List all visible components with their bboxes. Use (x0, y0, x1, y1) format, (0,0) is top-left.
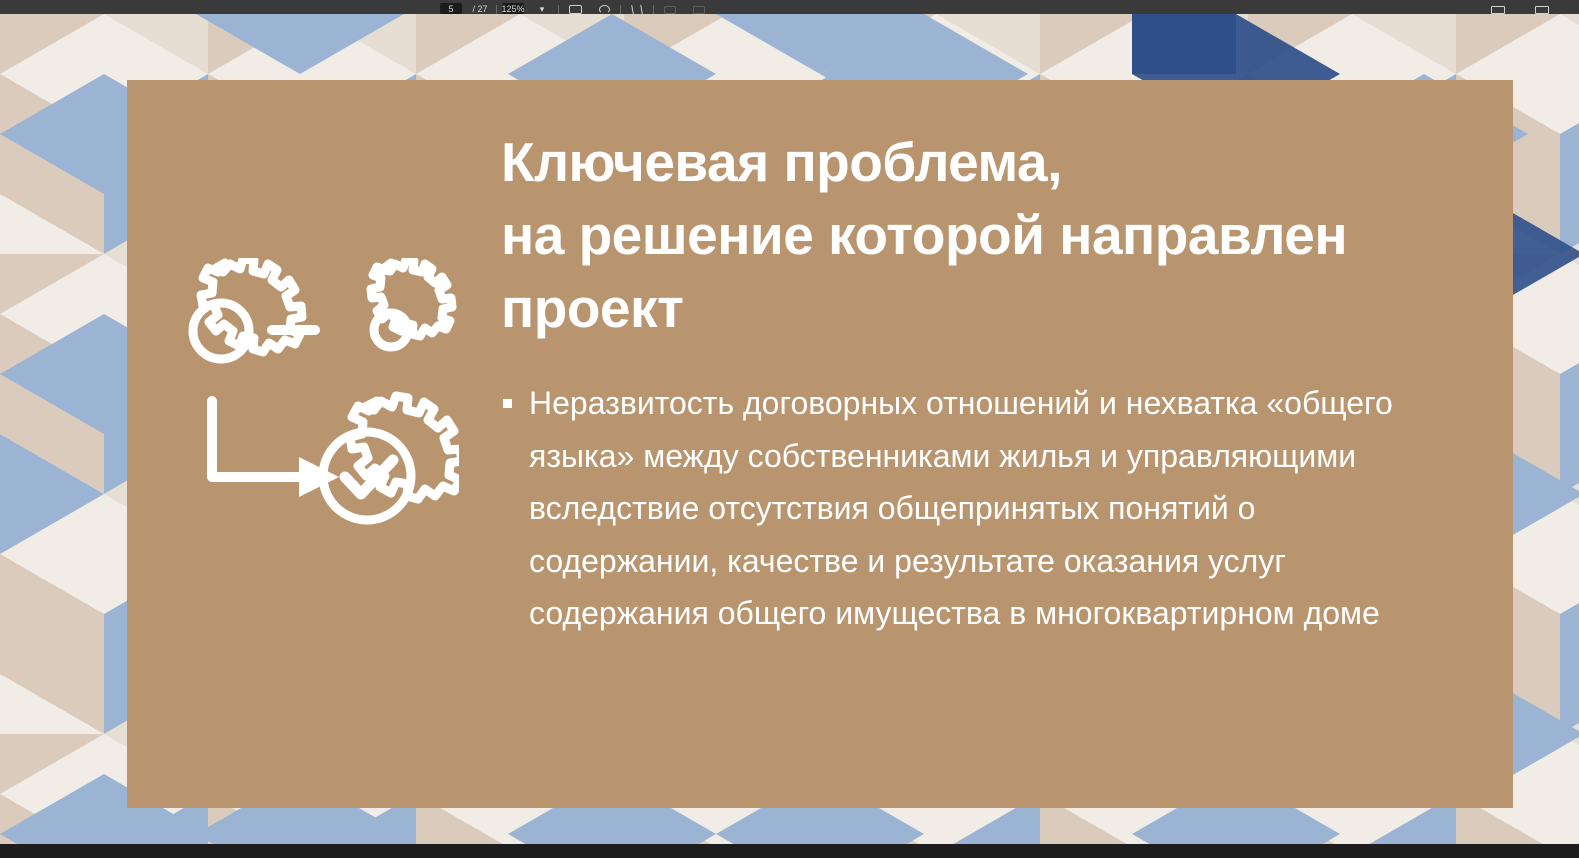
slide-bullet-list: Неразвитость договорных отношений и нехв… (501, 377, 1453, 639)
restore-glyph (1491, 6, 1505, 14)
toolbar-page-group: 5 / 27 (440, 0, 491, 14)
prev-icon[interactable] (659, 3, 681, 14)
next-icon[interactable] (688, 3, 710, 14)
zoom-level[interactable]: 125% (502, 3, 524, 14)
toolbar-nav-group (659, 0, 710, 14)
slide-graphic-column (127, 80, 501, 808)
presentation-viewer: 5 / 27 125% ▾ (0, 0, 1579, 858)
slide-content-card: Ключевая проблема, на решение которой на… (127, 80, 1513, 808)
slide-title-sub: на решение которой направлен проект (501, 199, 1453, 345)
save-glyph (569, 5, 582, 14)
pointer-icon[interactable] (626, 3, 648, 14)
close-button[interactable] (1531, 3, 1553, 14)
toolbar-divider (496, 5, 497, 14)
next-glyph (693, 6, 705, 14)
list-item: Неразвитость договорных отношений и нехв… (501, 377, 1453, 639)
page-indicator[interactable]: 5 (440, 3, 462, 14)
slide-canvas: Ключевая проблема, на решение которой на… (0, 14, 1579, 844)
bottom-status-strip (0, 844, 1579, 858)
toolbar-divider (558, 5, 559, 14)
toolbar-spacer (0, 0, 440, 14)
refresh-icon[interactable] (593, 3, 615, 14)
restore-button[interactable] (1487, 3, 1509, 14)
close-glyph (1535, 6, 1549, 14)
toolbar-divider (620, 5, 621, 14)
window-controls (1487, 0, 1579, 14)
refresh-glyph (599, 5, 610, 14)
slide-title: Ключевая проблема, на решение которой на… (501, 126, 1453, 345)
pointer-glyph (631, 5, 643, 14)
toolbar-pointer-group (626, 0, 648, 14)
slide-title-main: Ключевая проблема, (501, 126, 1453, 199)
chevron-down-icon[interactable]: ▾ (531, 3, 553, 14)
prev-glyph (664, 6, 676, 14)
gears-process-icon (149, 258, 459, 553)
toolbar-action-group (564, 0, 615, 14)
page-total: / 27 (469, 3, 491, 14)
save-icon[interactable] (564, 3, 586, 14)
toolbar-zoom-group: 125% ▾ (502, 0, 553, 14)
top-toolbar: 5 / 27 125% ▾ (0, 0, 1579, 14)
slide-text-column: Ключевая проблема, на решение которой на… (501, 80, 1513, 640)
toolbar-divider (653, 5, 654, 14)
